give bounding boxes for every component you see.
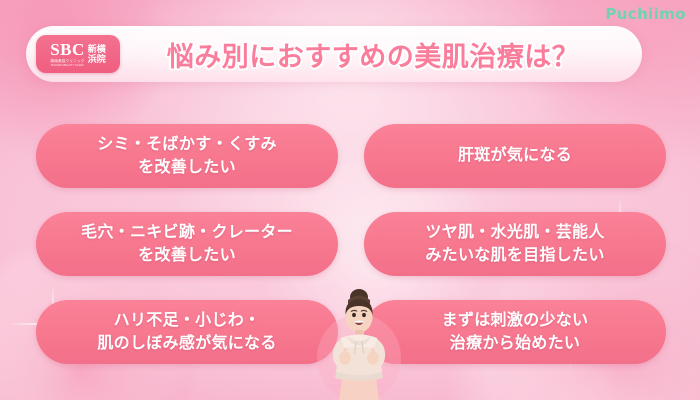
woman-thumbs-up-photo — [316, 286, 402, 400]
concern-card-kanpan[interactable]: 肝斑が気になる — [364, 124, 666, 188]
concern-card-line2: 治療から始めたい — [442, 332, 589, 355]
poster-canvas: Puchiimo SBC 湘南美容クリニック SHONAN BEAUTY CLI… — [0, 0, 700, 400]
sbc-branch-line1: 新横 — [88, 44, 106, 54]
concern-card-line1: ハリ不足・小じわ・ — [97, 309, 276, 332]
sbc-logo-initials: SBC — [50, 41, 85, 58]
concern-card-line1: シミ・そばかす・くすみ — [97, 133, 277, 156]
sbc-branch-line2: 浜院 — [88, 54, 106, 64]
concern-card-hari[interactable]: ハリ不足・小じわ・ 肌のしぼみ感が気になる — [36, 300, 338, 364]
concern-card-shigeki[interactable]: まずは刺激の少ない 治療から始めたい — [364, 300, 666, 364]
concern-card-line1: まずは刺激の少ない — [442, 309, 589, 332]
page-title: 悩み別におすすめの美肌治療は？ — [120, 35, 642, 74]
sbc-logo-wordmark: SBC 湘南美容クリニック SHONAN BEAUTY CLINIC — [50, 41, 85, 68]
concern-card-line2: を改善したい — [81, 244, 293, 267]
sbc-clinic-logo: SBC 湘南美容クリニック SHONAN BEAUTY CLINIC 新横 浜院 — [36, 35, 120, 73]
header-banner: SBC 湘南美容クリニック SHONAN BEAUTY CLINIC 新横 浜院… — [26, 26, 642, 82]
concern-card-line2: みたいな肌を目指したい — [425, 244, 604, 267]
brand-logo-puchiimo: Puchiimo — [605, 5, 686, 23]
concern-card-line2: 肌のしぼみ感が気になる — [97, 332, 276, 355]
concern-card-line1: 肝斑が気になる — [458, 144, 572, 167]
sbc-logo-subtitle: 湘南美容クリニック — [50, 60, 84, 64]
concern-card-line2: を改善したい — [97, 156, 277, 179]
concern-card-line1: ツヤ肌・水光肌・芸能人 — [425, 221, 604, 244]
concern-card-keana[interactable]: 毛穴・ニキビ跡・クレーター を改善したい — [36, 212, 338, 276]
concern-card-shimi[interactable]: シミ・そばかす・くすみ を改善したい — [36, 124, 338, 188]
concern-card-line1: 毛穴・ニキビ跡・クレーター — [81, 221, 293, 244]
sbc-logo-subtitle-en: SHONAN BEAUTY CLINIC — [51, 65, 84, 68]
concern-card-tsuyahada[interactable]: ツヤ肌・水光肌・芸能人 みたいな肌を目指したい — [364, 212, 666, 276]
sbc-logo-branch: 新横 浜院 — [88, 44, 106, 65]
